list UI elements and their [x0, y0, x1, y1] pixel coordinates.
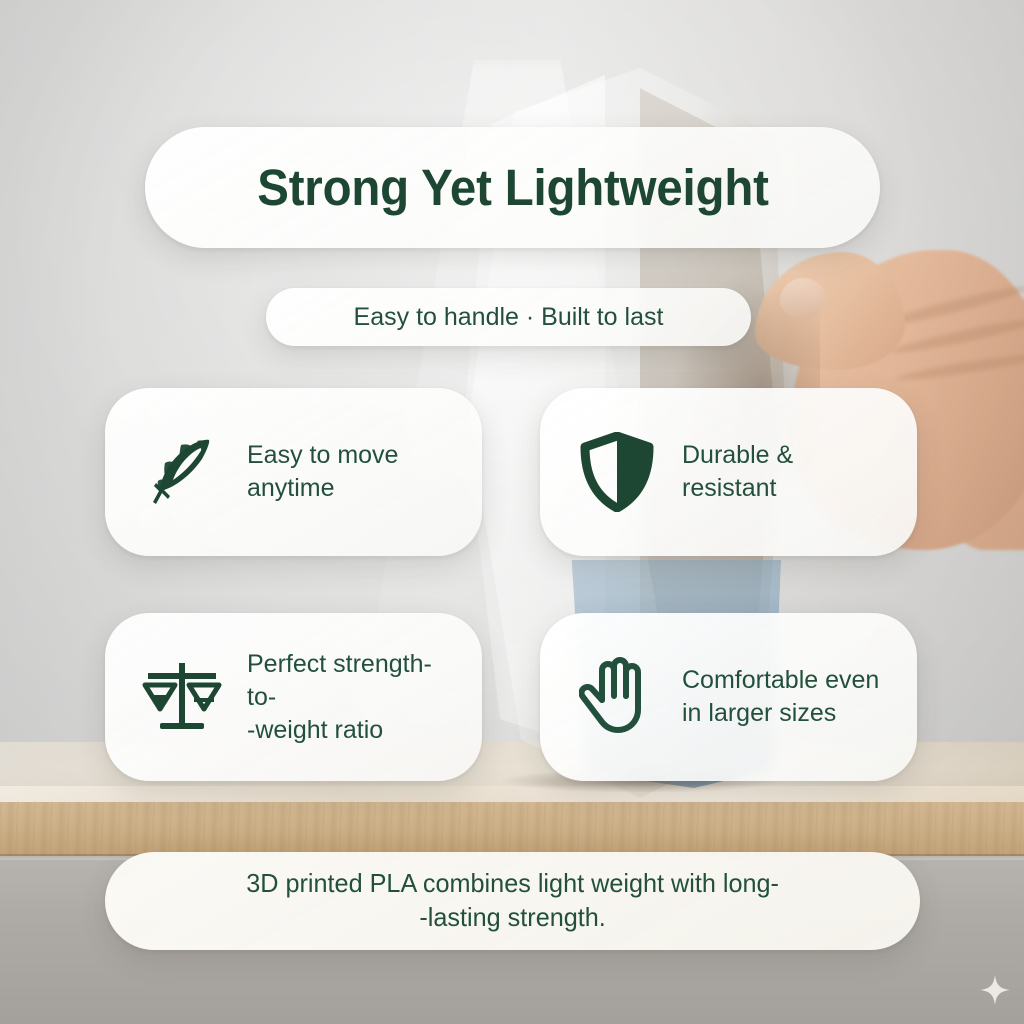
feature-label: Comfortable even in larger sizes	[682, 664, 879, 730]
feature-label-line1: Comfortable even	[682, 666, 879, 694]
feature-label: Durable & resistant	[682, 439, 793, 505]
footer-banner: 3D printed PLA combines light weight wit…	[105, 852, 920, 950]
footer-line1: 3D printed PLA combines light weight wit…	[246, 868, 779, 898]
feature-card-durable[interactable]: Durable & resistant	[540, 388, 917, 556]
shield-icon	[574, 429, 660, 515]
feature-label: Easy to move anytime	[247, 439, 398, 505]
subtitle-banner: Easy to handle · Built to last	[266, 288, 751, 346]
feature-label: Perfect strength-to- -weight ratio	[247, 648, 456, 747]
balance-scale-icon	[139, 654, 225, 740]
wooden-shelf-edge	[0, 802, 1024, 856]
footer-text: 3D printed PLA combines light weight wit…	[246, 867, 779, 935]
feather-icon	[139, 429, 225, 515]
footer-line2: -lasting strength.	[419, 902, 605, 932]
feature-label-line1: Durable &	[682, 441, 793, 469]
feature-label-line2: anytime	[247, 474, 335, 502]
feature-label-line2: resistant	[682, 474, 776, 502]
title-banner: Strong Yet Lightweight	[145, 127, 880, 248]
sparkle-icon	[980, 975, 1010, 1005]
feature-label-line1: Easy to move	[247, 441, 398, 469]
feature-card-comfortable[interactable]: Comfortable even in larger sizes	[540, 613, 917, 781]
infographic-canvas: Strong Yet Lightweight Easy to handle · …	[0, 0, 1024, 1024]
page-subtitle: Easy to handle · Built to last	[354, 303, 664, 332]
page-title: Strong Yet Lightweight	[257, 158, 768, 217]
feature-card-strength-to-weight[interactable]: Perfect strength-to- -weight ratio	[105, 613, 482, 781]
feature-card-easy-to-move[interactable]: Easy to move anytime	[105, 388, 482, 556]
hand-icon	[574, 654, 660, 740]
feature-label-line2: -weight ratio	[247, 716, 383, 744]
feature-label-line2: in larger sizes	[682, 699, 836, 727]
feature-label-line1: Perfect strength-to-	[247, 650, 432, 711]
